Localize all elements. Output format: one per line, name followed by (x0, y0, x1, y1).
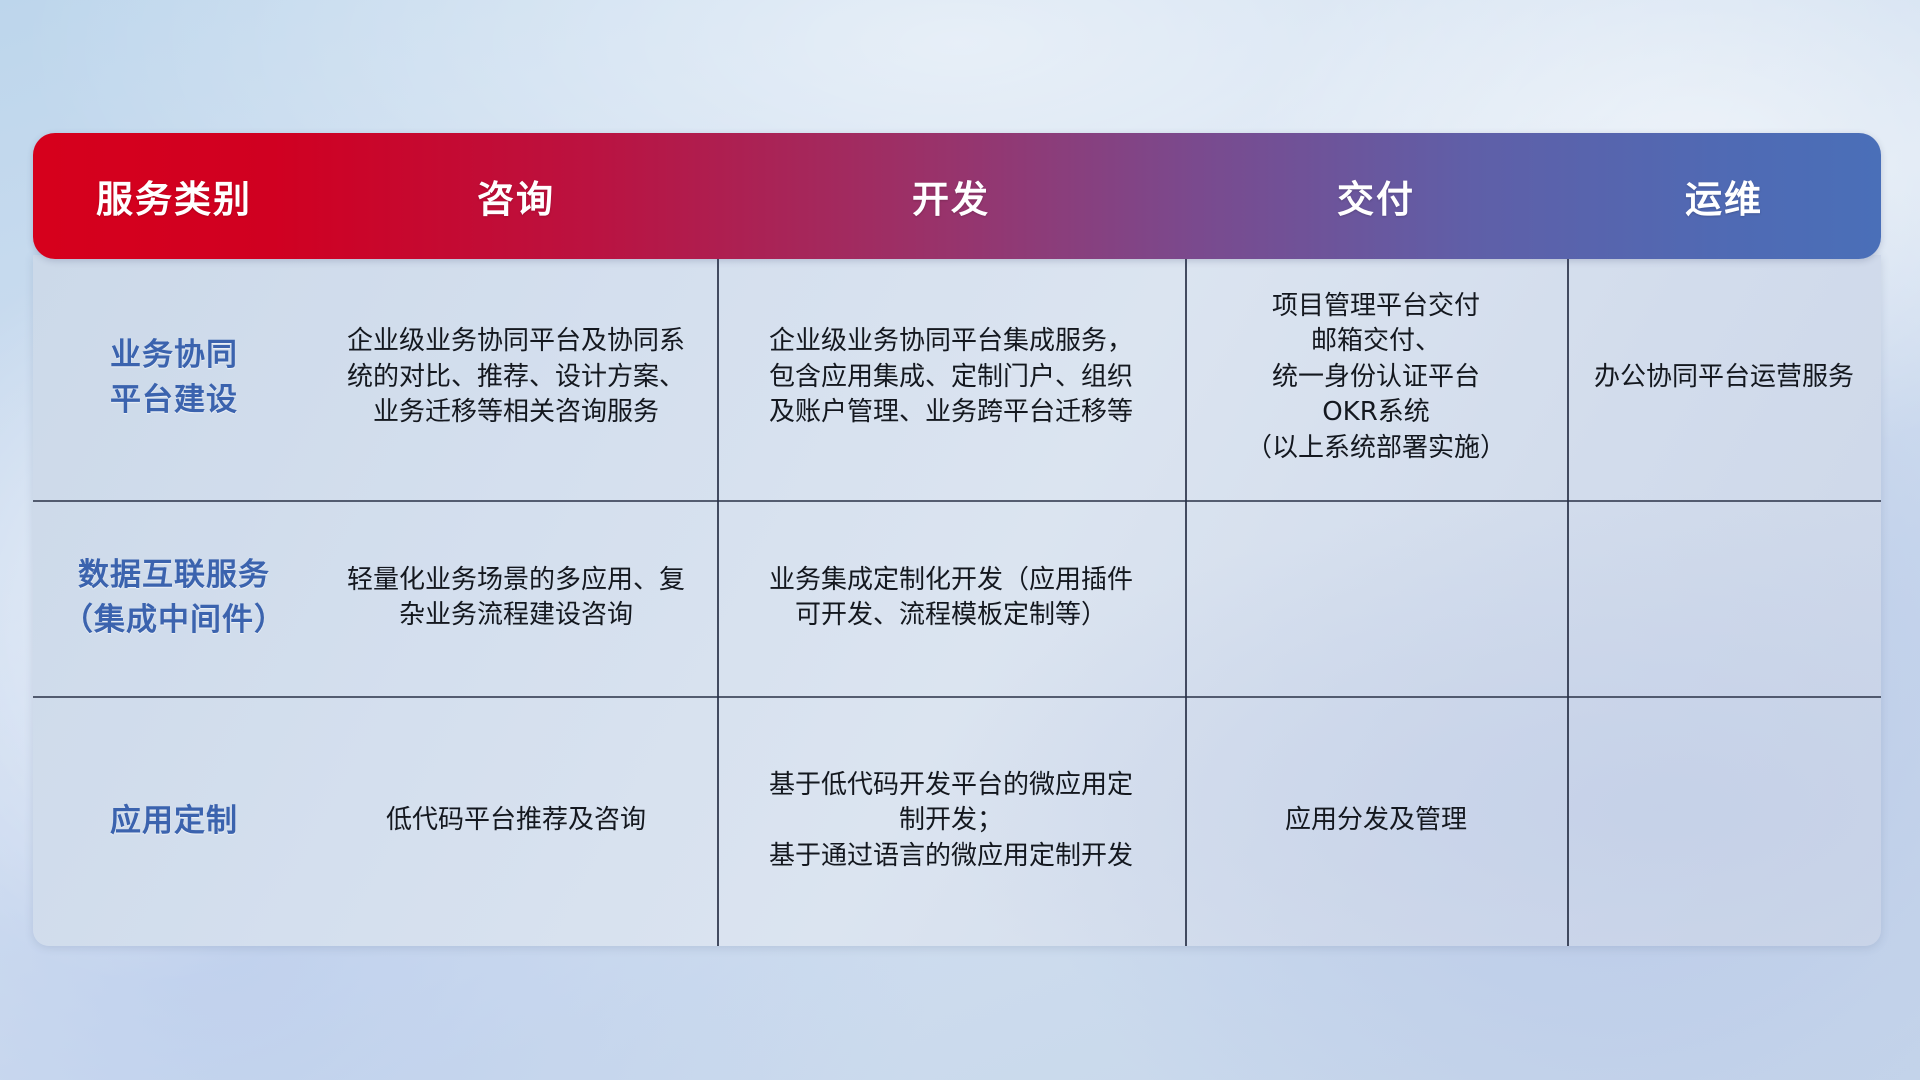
column-header-delivery: 交付 (1185, 133, 1567, 259)
table-row: 数据互联服务 （集成中间件） 轻量化业务场景的多应用、复 杂业务流程建设咨询 业… (33, 500, 1881, 696)
cell-consulting-row-2: 轻量化业务场景的多应用、复 杂业务流程建设咨询 (315, 500, 717, 696)
column-header-development: 开发 (717, 133, 1185, 259)
cell-delivery-row-2 (1185, 500, 1567, 696)
cell-consulting-row-3: 低代码平台推荐及咨询 (315, 696, 717, 946)
cell-development-row-3: 基于低代码开发平台的微应用定 制开发； 基于通过语言的微应用定制开发 (717, 696, 1185, 946)
row-label-business-collaboration: 业务协同 平台建设 (33, 255, 315, 500)
cell-operations-row-3 (1567, 696, 1881, 946)
column-header-consulting: 咨询 (315, 133, 717, 259)
row-label-data-interconnect-service: 数据互联服务 （集成中间件） (33, 500, 315, 696)
service-matrix-table: 服务类别 咨询 开发 交付 运维 业务协同 平台建设 企业级业务协同平台及协同系… (33, 133, 1881, 946)
cell-delivery-row-3: 应用分发及管理 (1185, 696, 1567, 946)
cell-operations-row-2 (1567, 500, 1881, 696)
column-header-operations: 运维 (1567, 133, 1881, 259)
table-row: 业务协同 平台建设 企业级业务协同平台及协同系 统的对比、推荐、设计方案、 业务… (33, 255, 1881, 500)
table-header-row: 服务类别 咨询 开发 交付 运维 (33, 133, 1881, 259)
table-row: 应用定制 低代码平台推荐及咨询 基于低代码开发平台的微应用定 制开发； 基于通过… (33, 696, 1881, 946)
cell-operations-row-1: 办公协同平台运营服务 (1567, 255, 1881, 500)
table-body: 业务协同 平台建设 企业级业务协同平台及协同系 统的对比、推荐、设计方案、 业务… (33, 255, 1881, 946)
row-label-application-customization: 应用定制 (33, 696, 315, 946)
cell-consulting-row-1: 企业级业务协同平台及协同系 统的对比、推荐、设计方案、 业务迁移等相关咨询服务 (315, 255, 717, 500)
cell-development-row-1: 企业级业务协同平台集成服务， 包含应用集成、定制门户、组织 及账户管理、业务跨平… (717, 255, 1185, 500)
column-header-service-category: 服务类别 (33, 133, 315, 259)
cell-development-row-2: 业务集成定制化开发（应用插件 可开发、流程模板定制等） (717, 500, 1185, 696)
cell-delivery-row-1: 项目管理平台交付 邮箱交付、 统一身份认证平台 OKR系统 （以上系统部署实施） (1185, 255, 1567, 500)
